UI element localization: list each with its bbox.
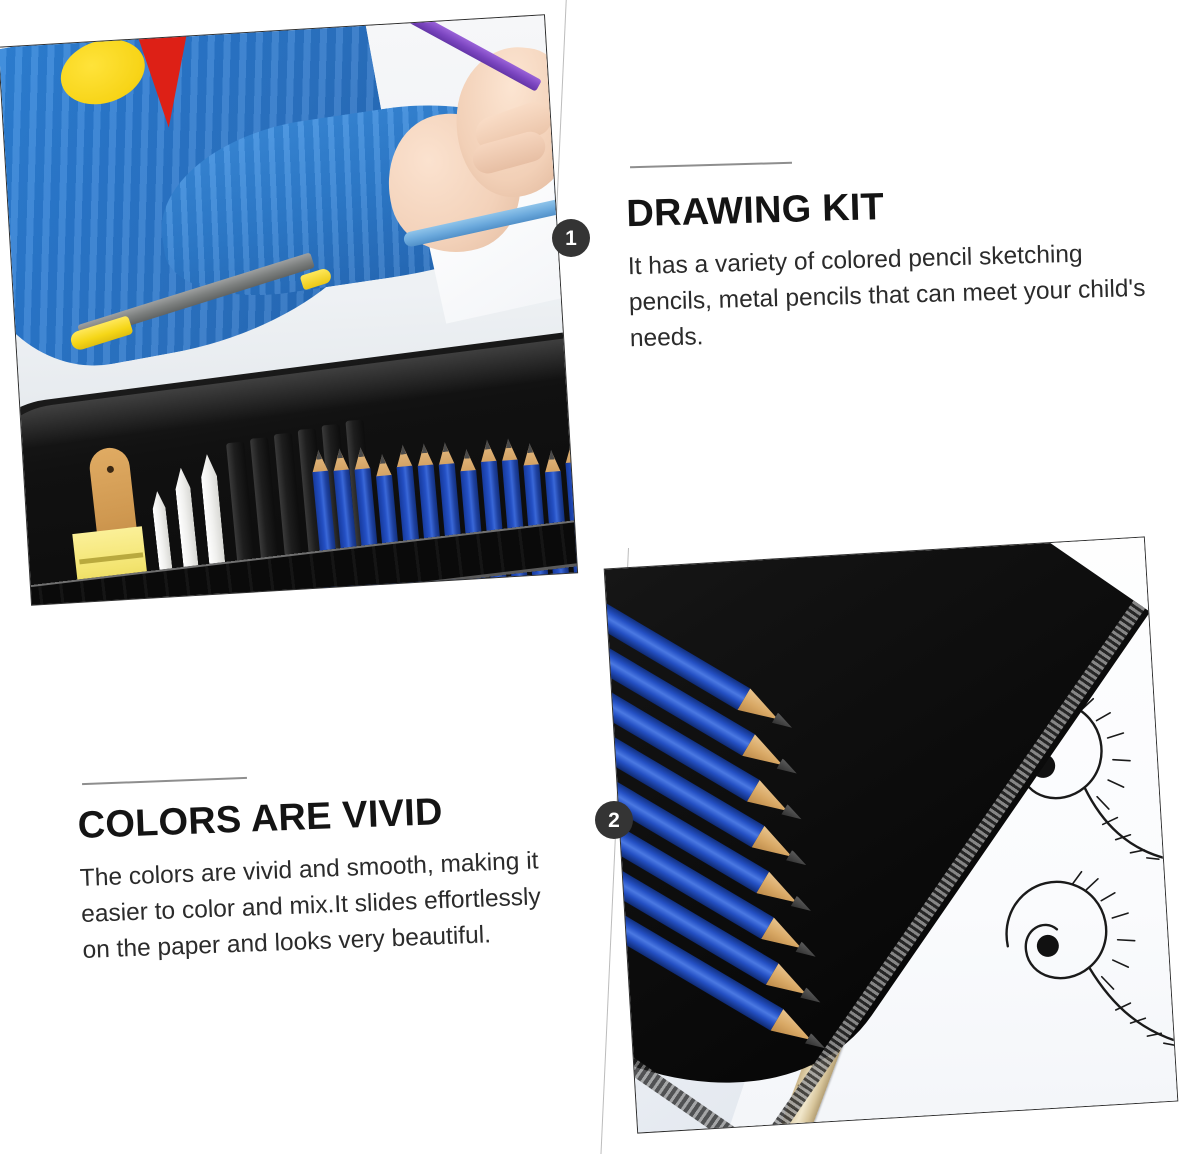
feature-title-1: DRAWING KIT — [626, 179, 1147, 237]
callout-badge-1: 1 — [552, 219, 590, 257]
feature-photo-2 — [604, 536, 1179, 1133]
feature-text-1: DRAWING KIT It has a variety of colored … — [626, 179, 1150, 357]
feature-text-2: COLORS ARE VIVID The colors are vivid an… — [77, 787, 553, 969]
ruler-tick — [780, 1129, 789, 1132]
feature-description-1: It has a variety of colored pencil sketc… — [627, 235, 1150, 357]
sandpaper-block-hole — [107, 465, 115, 473]
accent-rule-1 — [630, 162, 792, 169]
feature-photo-1 — [0, 14, 578, 606]
callout-badge-2: 2 — [595, 801, 633, 839]
accent-rule-2 — [82, 777, 247, 785]
infographic-canvas: 1 DRAWING KIT It has a variety of colore… — [0, 0, 1195, 1154]
feature-title-2: COLORS ARE VIVID — [77, 787, 548, 848]
shirt-red-triangle-graphic — [135, 24, 195, 129]
feature-description-2: The colors are vivid and smooth, making … — [79, 843, 553, 969]
eraser-label-band — [79, 552, 144, 564]
